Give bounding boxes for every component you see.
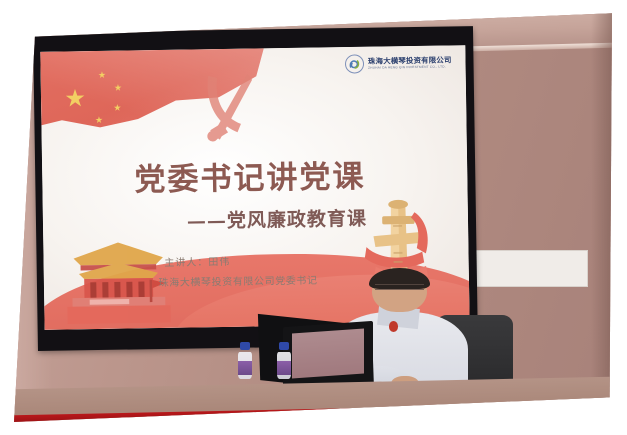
laptop [283, 320, 373, 388]
flag-star-small-1: ★ [98, 70, 106, 79]
water-bottle-1 [238, 342, 252, 379]
company-logo: 珠海大横琴投资有限公司 ZHUHAI DA HENG QIN INVESTMEN… [344, 52, 452, 74]
eyeglasses-icon [375, 284, 425, 290]
microphone-icon [389, 321, 399, 332]
laptop-screen [292, 328, 364, 377]
bottle-cap [240, 342, 250, 350]
bottle-label [238, 361, 252, 375]
bottle-cap [279, 342, 289, 350]
flag-star-small-4: ★ [95, 116, 103, 125]
company-name-cn: 珠海大横琴投资有限公司 [368, 56, 452, 65]
flag-star-small-2: ★ [114, 84, 122, 93]
presenter-role: 珠海大横琴投资有限公司党委书记 [159, 271, 318, 288]
slide-presenter-block: 主讲人：田伟 珠海大横琴投资有限公司党委书记 [158, 251, 318, 288]
flag-star-small-3: ★ [113, 103, 121, 112]
company-logo-text: 珠海大横琴投资有限公司 ZHUHAI DA HENG QIN INVESTMEN… [368, 56, 452, 69]
company-name-en: ZHUHAI DA HENG QIN INVESTMENT CO., LTD. [368, 65, 452, 69]
slide-title: 党委书记讲党课 [134, 151, 366, 200]
water-bottle-2 [277, 342, 291, 379]
presenter-name: 主讲人：田伟 [164, 251, 317, 268]
flag-star-large: ★ [64, 87, 86, 111]
slide-subtitle: ——党风廉政教育课 [187, 203, 367, 233]
photograph: ★ ★ ★ ★ ★ [14, 12, 612, 422]
ccp-hammer-sickle-emblem-icon [185, 65, 271, 155]
bottle-label [277, 361, 291, 375]
wall-right-edge [591, 12, 612, 422]
photo-frame: ★ ★ ★ ★ ★ [14, 12, 612, 422]
company-logo-mark-icon [344, 54, 364, 74]
